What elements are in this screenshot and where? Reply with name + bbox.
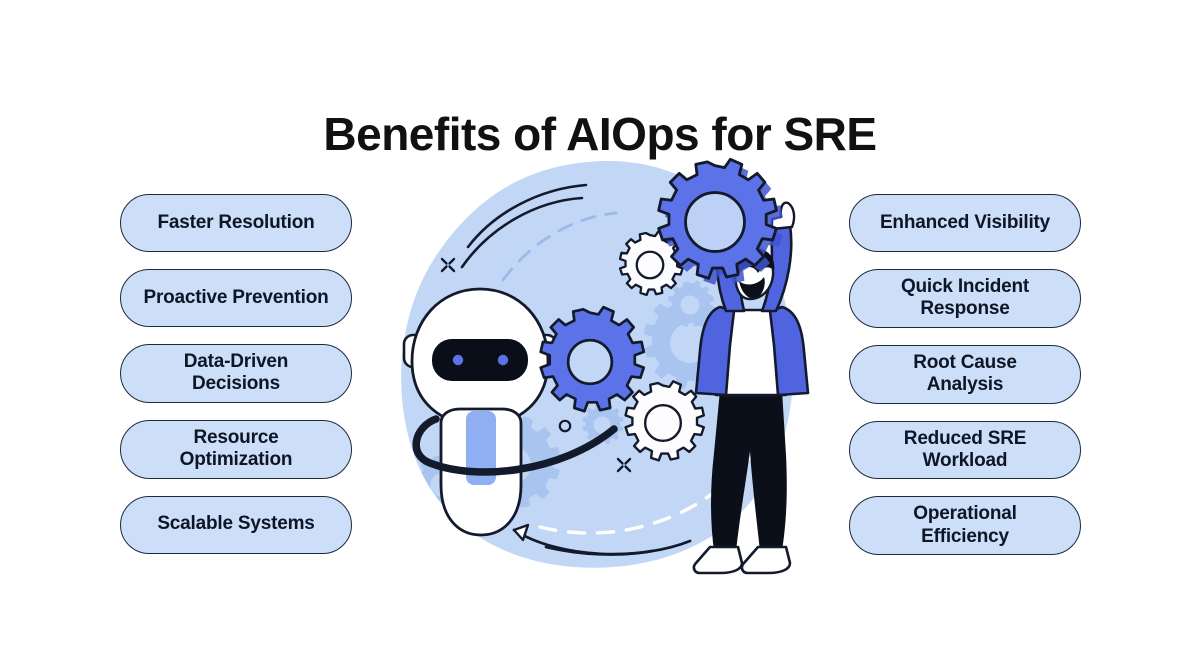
benefit-pill-operational-efficiency[interactable]: Operational Efficiency (849, 496, 1081, 555)
white-gear-lower (626, 381, 704, 460)
benefit-pill-scalable-systems[interactable]: Scalable Systems (120, 496, 352, 554)
person-jacket-right (770, 307, 808, 395)
benefit-pill-quick-incident-response[interactable]: Quick Incident Response (849, 269, 1081, 328)
benefit-pill-data-driven-decisions[interactable]: Data-Driven Decisions (120, 344, 352, 403)
left-benefit-column: Faster Resolution Proactive Prevention D… (120, 194, 352, 554)
benefit-pill-proactive-prevention[interactable]: Proactive Prevention (120, 269, 352, 327)
person-shoe-left (694, 547, 742, 573)
infographic-canvas: Benefits of AIOps for SRE Faster Resolut… (0, 0, 1200, 650)
robot-eye-right (498, 355, 508, 365)
benefit-pill-faster-resolution[interactable]: Faster Resolution (120, 194, 352, 252)
benefit-pill-root-cause-analysis[interactable]: Root Cause Analysis (849, 345, 1081, 404)
robot-visor (432, 339, 528, 381)
benefit-pill-resource-optimization[interactable]: Resource Optimization (120, 420, 352, 479)
page-title: Benefits of AIOps for SRE (0, 109, 1200, 160)
benefit-pill-reduced-sre-workload[interactable]: Reduced SRE Workload (849, 421, 1081, 480)
right-benefit-column: Enhanced Visibility Quick Incident Respo… (849, 194, 1081, 555)
center-blue-gear (541, 307, 644, 411)
aiops-sre-illustration (390, 155, 815, 585)
robot-eye-left (453, 355, 463, 365)
person-shoe-right (742, 547, 790, 573)
benefit-pill-enhanced-visibility[interactable]: Enhanced Visibility (849, 194, 1081, 252)
